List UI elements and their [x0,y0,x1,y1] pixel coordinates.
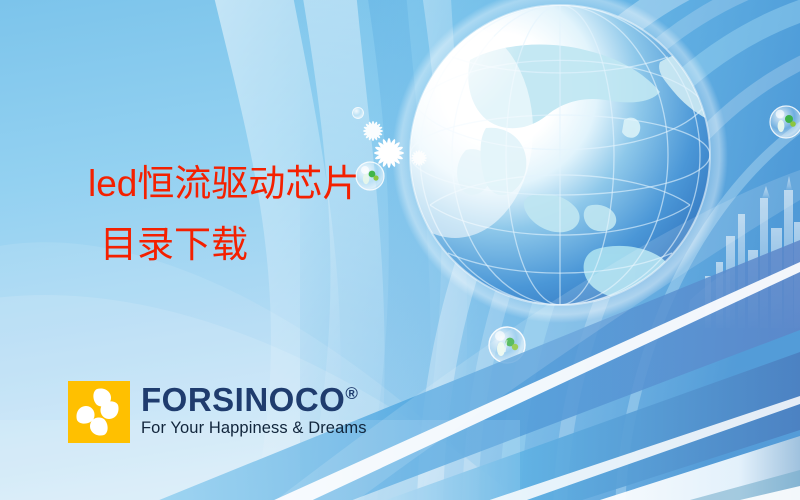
headline-line-2: 目录下载 [100,225,359,265]
logo-tagline: For Your Happiness & Dreams [141,420,367,437]
headline-block: led恒流驱动芯片 目录下载 [88,164,359,265]
logo-wordmark-text: FORSINOCO [141,381,345,418]
white-flower-small [411,150,427,166]
logo-wordmark: FORSINOCO® [141,383,367,416]
white-flower-large [374,138,404,168]
registered-trademark-icon: ® [345,384,358,403]
poster-canvas: led恒流驱动芯片 目录下载 FORSINOCO® [0,0,800,500]
sprout-bubble-right [770,106,800,138]
plain-bubble-small [353,108,364,119]
company-logo: FORSINOCO® For Your Happiness & Dreams [68,381,367,443]
white-flower-medium [363,121,383,141]
headline-line-1: led恒流驱动芯片 [88,163,359,204]
forsinoco-pinwheel-mark-icon [68,381,130,443]
sprout-bubble-left [356,162,384,190]
logo-text-block: FORSINOCO® For Your Happiness & Dreams [141,381,367,437]
